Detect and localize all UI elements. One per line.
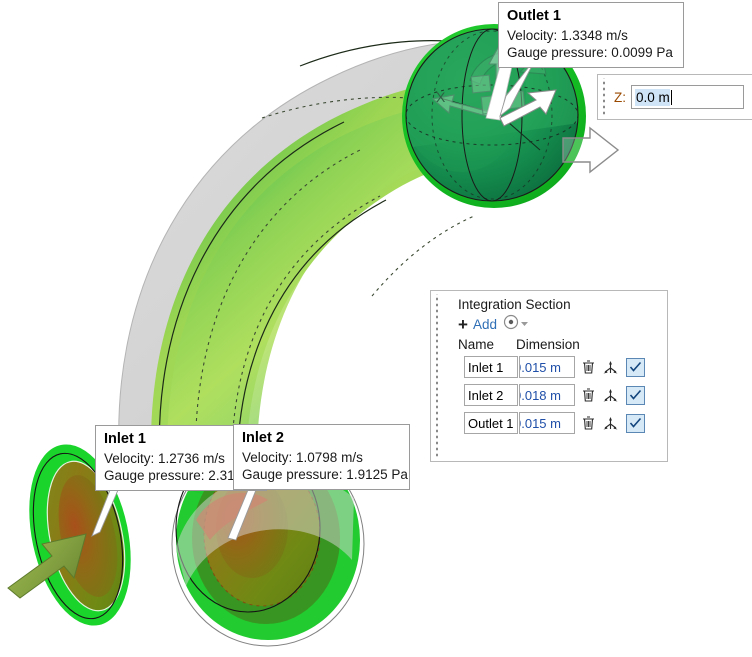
text-caret bbox=[671, 90, 672, 105]
panel-title: Integration Section bbox=[458, 297, 661, 312]
plus-icon: + bbox=[458, 316, 468, 333]
section-name-input[interactable]: Outlet 1 bbox=[464, 412, 518, 434]
axis-triad-icon[interactable] bbox=[602, 359, 619, 375]
measurement-callout-outlet-1[interactable]: Outlet 1 Velocity: 1.3348 m/s Gauge pres… bbox=[498, 2, 684, 68]
trash-icon[interactable] bbox=[581, 359, 596, 375]
section-dimension-input[interactable]: 0.015 m bbox=[519, 412, 575, 434]
section-enabled-checkbox[interactable] bbox=[626, 358, 645, 377]
z-widget-drag-grip[interactable] bbox=[600, 78, 609, 116]
axis-triad-icon[interactable] bbox=[602, 387, 619, 403]
z-axis-label: Z: bbox=[614, 90, 626, 105]
panel-drag-grip[interactable] bbox=[433, 294, 442, 458]
callout-title: Outlet 1 bbox=[507, 7, 675, 26]
callout-pressure: Gauge pressure: 0.0099 Pa bbox=[507, 44, 675, 61]
section-enabled-checkbox[interactable] bbox=[626, 386, 645, 405]
chevron-down-icon[interactable] bbox=[520, 315, 529, 333]
callout-velocity: Velocity: 1.3348 m/s bbox=[507, 27, 675, 44]
column-header-name: Name bbox=[458, 337, 516, 352]
add-section-row[interactable]: + Add bbox=[458, 314, 661, 334]
callout-title: Inlet 2 bbox=[242, 429, 401, 448]
table-row[interactable]: Outlet 1 0.015 m bbox=[464, 411, 661, 435]
gizmo-x-label: X bbox=[436, 89, 446, 105]
column-headers: Name Dimension bbox=[458, 337, 661, 352]
table-row[interactable]: Inlet 1 0.015 m bbox=[464, 355, 661, 379]
trash-icon[interactable] bbox=[581, 415, 596, 431]
target-point-icon[interactable] bbox=[503, 314, 519, 335]
callout-pressure: Gauge pressure: 1.9125 Pa bbox=[242, 466, 401, 483]
section-enabled-checkbox[interactable] bbox=[626, 414, 645, 433]
measurement-callout-inlet-2[interactable]: Inlet 2 Velocity: 1.0798 m/s Gauge press… bbox=[233, 424, 410, 490]
section-dimension-input[interactable]: 0.018 m bbox=[519, 384, 575, 406]
section-dimension-input[interactable]: 0.015 m bbox=[519, 356, 575, 378]
table-row[interactable]: Inlet 2 0.018 m bbox=[464, 383, 661, 407]
axis-triad-icon[interactable] bbox=[602, 415, 619, 431]
section-name-input[interactable]: Inlet 1 bbox=[464, 356, 518, 378]
section-name-input[interactable]: Inlet 2 bbox=[464, 384, 518, 406]
column-header-dimension: Dimension bbox=[516, 337, 596, 352]
z-coordinate-widget[interactable]: Z: 0.0 m bbox=[597, 74, 752, 120]
panel-body: Integration Section + Add Name bbox=[444, 291, 667, 461]
cfd-viewport-window: Y X bbox=[0, 0, 752, 657]
callout-velocity: Velocity: 1.0798 m/s bbox=[242, 449, 401, 466]
trash-icon[interactable] bbox=[581, 387, 596, 403]
z-value-input[interactable]: 0.0 m bbox=[631, 85, 744, 109]
z-value-text: 0.0 m bbox=[635, 89, 670, 106]
integration-section-panel[interactable]: Integration Section + Add Name bbox=[430, 290, 668, 462]
add-section-label[interactable]: Add bbox=[473, 317, 497, 332]
